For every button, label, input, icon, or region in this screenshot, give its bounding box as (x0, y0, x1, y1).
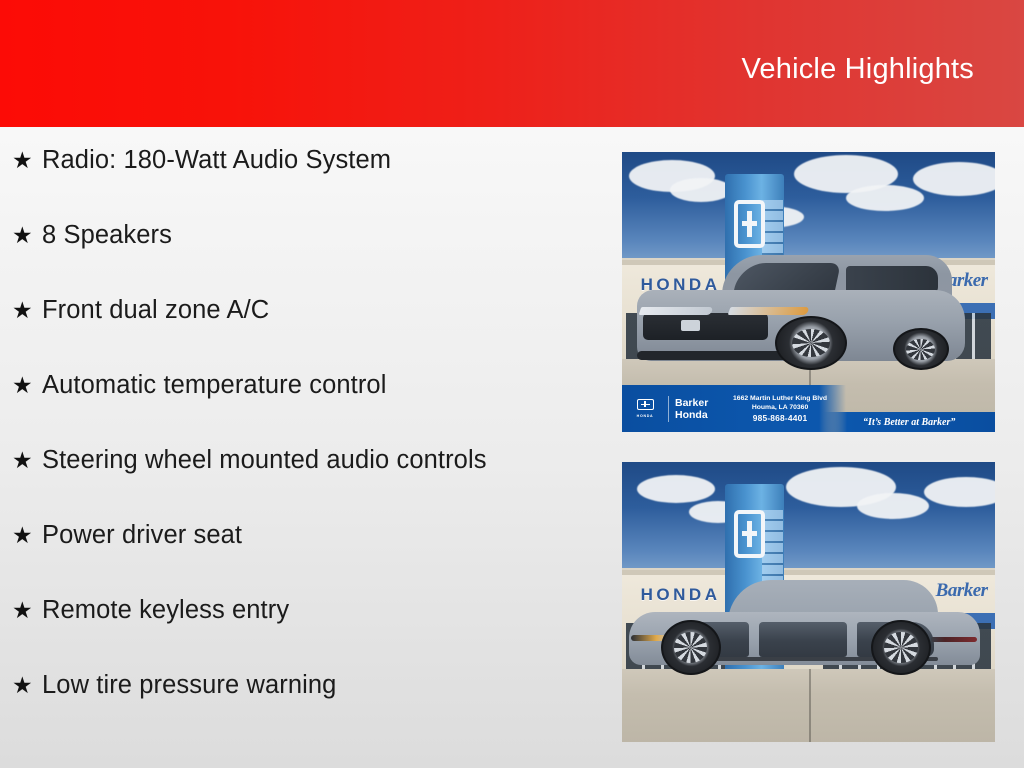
star-icon: ★ (12, 218, 42, 252)
star-icon: ★ (12, 293, 42, 327)
vehicle-highlights-list: ★ Radio: 180-Watt Audio System ★ 8 Speak… (0, 143, 600, 763)
honda-h-logo-icon (734, 200, 765, 248)
page-title: Vehicle Highlights (741, 55, 974, 84)
list-item: ★ Steering wheel mounted audio controls (12, 443, 600, 477)
highlight-label: Radio: 180-Watt Audio System (42, 143, 497, 177)
highlight-label: Automatic temperature control (42, 368, 497, 402)
vehicle-highlights-slide: Vehicle Highlights ★ Radio: 180-Watt Aud… (0, 0, 1024, 768)
wheel-rear (871, 620, 931, 675)
highlight-label: Power driver seat (42, 518, 497, 552)
vehicle-front-three-quarter (637, 253, 965, 371)
header-bar: Vehicle Highlights (0, 0, 1024, 127)
list-item: ★ Front dual zone A/C (12, 293, 600, 327)
list-item: ★ Remote keyless entry (12, 593, 600, 627)
wheel-front (661, 620, 721, 675)
window-middle (759, 622, 847, 657)
cloud-shape (670, 178, 732, 202)
vehicle-photo-front[interactable]: HONDA Barker (622, 152, 995, 432)
honda-badge-icon (681, 320, 700, 331)
highlight-label: Low tire pressure warning (42, 668, 497, 702)
cloud-shape (924, 477, 995, 507)
roofline (622, 570, 995, 575)
list-item: ★ Automatic temperature control (12, 368, 600, 402)
cloud-shape (913, 162, 995, 196)
star-icon: ★ (12, 443, 42, 477)
honda-h-logo-icon (734, 510, 765, 558)
vehicle-side-profile (629, 580, 980, 675)
list-item: ★ Radio: 180-Watt Audio System (12, 143, 600, 177)
front-grille (643, 313, 768, 340)
star-icon: ★ (12, 518, 42, 552)
vehicle-photo-gallery: HONDA Barker (622, 152, 995, 742)
star-icon: ★ (12, 368, 42, 402)
list-item: ★ 8 Speakers (12, 218, 600, 252)
list-item: ★ Power driver seat (12, 518, 600, 552)
star-icon: ★ (12, 143, 42, 177)
wheel-front (775, 316, 847, 370)
lot-pavement (622, 669, 995, 742)
taillight (931, 637, 977, 642)
highlight-label: Steering wheel mounted audio controls (42, 443, 497, 477)
cloud-shape (846, 185, 924, 211)
pavement-seam (809, 669, 811, 742)
cloud-shape (637, 475, 715, 503)
vehicle-photo-side[interactable]: HONDA Barker (622, 462, 995, 742)
highlight-label: Front dual zone A/C (42, 293, 497, 327)
headlight-left (639, 307, 714, 315)
star-icon: ★ (12, 668, 42, 702)
list-item: ★ Low tire pressure warning (12, 668, 600, 702)
highlight-label: Remote keyless entry (42, 593, 497, 627)
cloud-shape (857, 493, 929, 519)
highlight-label: 8 Speakers (42, 218, 497, 252)
wheel-rear (893, 328, 949, 370)
star-icon: ★ (12, 593, 42, 627)
headlight-right (727, 307, 809, 315)
